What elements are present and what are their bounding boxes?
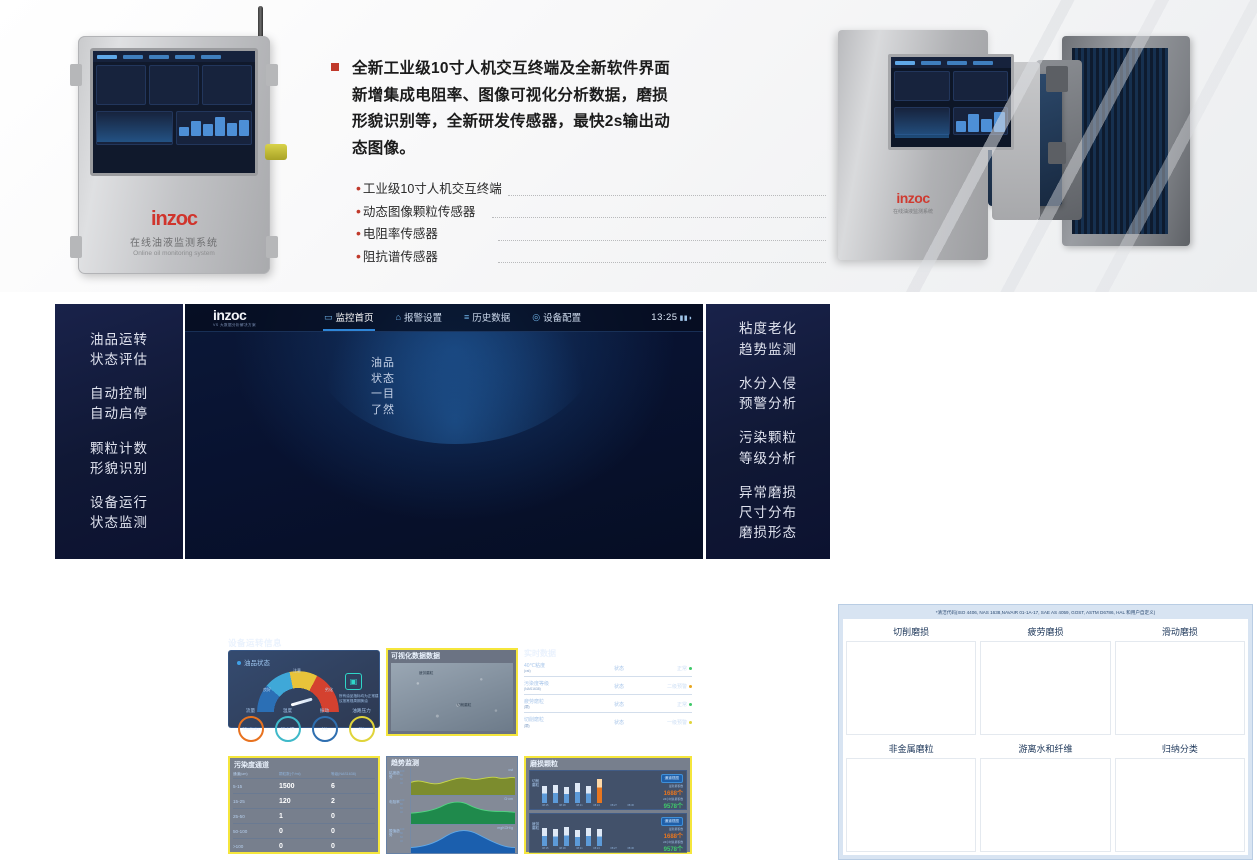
feature-line: 自动控制 bbox=[90, 384, 148, 404]
device-brand-text: inzoc bbox=[78, 208, 270, 231]
callout-label: 工业级10寸人机交互终端 bbox=[363, 182, 502, 196]
device-name-cn: 在线油液监测系统 bbox=[78, 234, 270, 249]
clock-time: 13:25 bbox=[651, 312, 677, 323]
realtime-data-panel: 实时数据 40℃粘度(cst) 67.67 状态 正常 污染度等级(NAS163… bbox=[524, 648, 692, 736]
table-row: 15-25 120 2 bbox=[233, 794, 375, 809]
cell-grade: 0 bbox=[331, 828, 375, 835]
feature-group: 自动控制自动启停 bbox=[90, 384, 148, 425]
callout-label: 电阻率传感器 bbox=[363, 227, 438, 241]
connector-knob bbox=[265, 144, 287, 160]
grid-cell-cutting-wear: 切削磨损 bbox=[846, 622, 976, 735]
gauge-label: 注意 bbox=[293, 668, 301, 674]
mini-gauge-row: 流量 30ml/min 温度 55.4 ℃ 振动 1% 油路压力 2% bbox=[236, 708, 376, 742]
gauge-label: 劣化 bbox=[325, 687, 333, 693]
cell-title: 非金属磨粒 bbox=[846, 739, 976, 758]
trend-monitor-panel: 趋势监测 粘度趋势 100806040 cst 电阻率 1008060 bbox=[386, 756, 518, 854]
status-col-label: 状态 bbox=[614, 701, 640, 708]
right-feature-panel: 粘度老化趋势监测 水分入侵预警分析 污染颗粒等级分析 异常磨损尺寸分布磨损形态 bbox=[706, 304, 830, 559]
settings-icon: ◎ bbox=[532, 312, 540, 323]
mount-tab-bl bbox=[70, 236, 82, 258]
alarm-icon: ⌂ bbox=[396, 312, 401, 322]
product-hero-section: inzoc 在线油液监测系统 Online oil monitoring sys… bbox=[0, 0, 1257, 292]
mini-gauge-value: 2% bbox=[349, 716, 375, 742]
micrograph-image bbox=[1115, 641, 1245, 735]
leader-line bbox=[498, 262, 826, 263]
wear-time-axis: 08:1508:1808:2108:2408:2708:30 bbox=[542, 847, 634, 850]
headline-block: 全新工业级10寸人机交互终端及全新软件界面新增集成电阻率、图像可视化分析数据，磨… bbox=[352, 56, 682, 163]
feature-group: 异常磨损尺寸分布磨损形态 bbox=[739, 483, 797, 544]
status-badge: 正常 bbox=[640, 701, 692, 708]
mount-tab-tl bbox=[70, 64, 82, 86]
feature-line: 异常磨损 bbox=[739, 483, 797, 503]
stat-value: 1688个 bbox=[663, 788, 683, 797]
trend-y-ticks: 100806040 bbox=[400, 797, 410, 825]
nav-item-history[interactable]: ≡ 历史数据 bbox=[463, 304, 511, 331]
wear-stats: 最新累积数 1688个 24小时总累积数 9578个 bbox=[663, 784, 683, 810]
headline-text: 全新工业级10寸人机交互终端及全新软件界面新增集成电阻率、图像可视化分析数据，磨… bbox=[352, 60, 670, 157]
dashboard-nav: ▭ 监控首页 ⌂ 报警设置 ≡ 历史数据 ◎ 设备配置 bbox=[323, 304, 582, 331]
table-row: 5-15 1500 6 bbox=[233, 779, 375, 794]
trend-row-label: 酸值趋势 bbox=[389, 826, 400, 854]
sensor-module-b bbox=[1048, 142, 1066, 164]
feature-line: 颗粒计数 bbox=[90, 439, 148, 459]
trend-unit: cst bbox=[508, 768, 513, 772]
table-row: 切削磨粒(颗) 9578 状态 一级预警 bbox=[524, 714, 692, 731]
metric-value: 1688 bbox=[568, 699, 614, 710]
cell-count: 120 bbox=[279, 798, 331, 805]
stat-value: 9578个 bbox=[663, 801, 683, 810]
visualization-panel: 可视化数据数据 疲劳磨粒 切削磨粒 bbox=[386, 648, 518, 736]
mini-gauge-vibration: 振动 1% bbox=[310, 708, 339, 742]
status-dot-icon bbox=[237, 661, 241, 665]
nav-label: 监控首页 bbox=[336, 310, 374, 324]
trend-chart-resistivity: 电阻率 100806040 Ω·cm bbox=[389, 797, 515, 825]
mini-gauge-caption: 流量 bbox=[236, 708, 265, 714]
feature-line: 污染颗粒 bbox=[739, 428, 797, 448]
metric-value: 6 级 bbox=[568, 679, 614, 694]
dashboard-header: inzoc VS 大数据分析解决方案 ▭ 监控首页 ⌂ 报警设置 ≡ 历史数据 … bbox=[185, 304, 703, 332]
micrograph-image bbox=[1115, 758, 1245, 852]
metric-unit: (NAS1638) bbox=[524, 687, 568, 691]
sensor-module-a bbox=[1046, 66, 1068, 92]
status-col-label: 状态 bbox=[614, 683, 640, 690]
cell-channel: 25-50 bbox=[233, 814, 279, 819]
metric-name: 40℃粘度(cst) bbox=[524, 663, 568, 674]
monitoring-dashboard: inzoc VS 大数据分析解决方案 ▭ 监控首页 ⌂ 报警设置 ≡ 历史数据 … bbox=[185, 304, 703, 559]
feature-line: 状态评估 bbox=[90, 350, 148, 370]
metric-unit: (颗) bbox=[524, 724, 568, 728]
status-badge: 一级预警 bbox=[640, 719, 692, 726]
trend-chart-viscosity: 粘度趋势 100806040 cst bbox=[389, 768, 515, 796]
wear-block-cutting: 切削磨粒 08:1508:1808:2108:2408:2708:30 通道视图… bbox=[529, 770, 687, 810]
particle-tag-cutting: 切削磨粒 bbox=[457, 703, 471, 708]
device-enclosure: inzoc 在线油液监测系统 Online oil monitoring sys… bbox=[78, 36, 270, 274]
mini-gauge-value: 1% bbox=[312, 716, 338, 742]
device-info-title: 设备运转信息 bbox=[228, 637, 282, 649]
table-row: 疲劳磨粒(颗) 1688 状态 正常 bbox=[524, 696, 692, 713]
cell-channel: 5-15 bbox=[233, 784, 279, 789]
metric-name: 污染度等级(NAS1638) bbox=[524, 681, 568, 692]
stat-value: 9578个 bbox=[663, 844, 683, 853]
history-icon: ≡ bbox=[464, 312, 469, 322]
trend-y-ticks: 100806040 bbox=[400, 826, 410, 854]
cell-title: 归纳分类 bbox=[1115, 739, 1245, 758]
trend-unit: mgKOH/g bbox=[497, 826, 513, 830]
feature-line: 水分入侵 bbox=[739, 374, 797, 394]
status-col-label: 状态 bbox=[614, 665, 640, 672]
col-header: 颗粒数(个/ml) bbox=[279, 772, 331, 777]
leader-line bbox=[498, 240, 826, 241]
metric-value: 9578 bbox=[568, 717, 614, 728]
table-row: 40℃粘度(cst) 67.67 状态 正常 bbox=[524, 660, 692, 677]
rear-circuit-array bbox=[1072, 48, 1168, 234]
terminal-screen bbox=[888, 54, 1014, 150]
cell-title: 滑动磨损 bbox=[1115, 622, 1245, 641]
exploded-name-cn: 在线油液监测系统 bbox=[838, 208, 988, 215]
callout-label: 动态图像颗粒传感器 bbox=[363, 205, 476, 219]
list-item: •电阻率传感器 bbox=[356, 223, 826, 246]
area-chart bbox=[411, 826, 515, 853]
status-badge: 二级预警 bbox=[640, 683, 692, 690]
nav-label: 报警设置 bbox=[404, 310, 442, 324]
feature-callout-list: •工业级10寸人机交互终端 •动态图像颗粒传感器 •电阻率传感器 •阻抗谱传感器 bbox=[356, 178, 826, 268]
mini-gauge-caption: 温度 bbox=[273, 708, 302, 714]
chip-icon: ▣ bbox=[345, 673, 362, 690]
nav-item-monitor[interactable]: ▭ 监控首页 bbox=[323, 304, 375, 331]
cell-count: 1 bbox=[279, 813, 331, 820]
trend-title: 趋势监测 bbox=[391, 758, 419, 768]
cell-grade: 0 bbox=[331, 813, 375, 820]
feature-line: 等级分析 bbox=[739, 449, 797, 469]
feature-line: 设备运行 bbox=[90, 493, 148, 513]
callout-label: 阻抗谱传感器 bbox=[363, 250, 438, 264]
feature-group: 设备运行状态监测 bbox=[90, 493, 148, 534]
dashboard-section: 油品运转状态评估 自动控制自动启停 颗粒计数形貌识别 设备运行状态监测 inzo… bbox=[0, 300, 1257, 565]
trend-chart-acidvalue: 酸值趋势 100806040 mgKOH/g bbox=[389, 826, 515, 854]
gauge-label: 良好 bbox=[263, 687, 271, 693]
feature-line: 油品运转 bbox=[90, 330, 148, 350]
particle-tag-fatigue: 疲劳磨粒 bbox=[419, 671, 433, 676]
col-header: 通道(um) bbox=[233, 772, 279, 777]
metric-value: 67.67 bbox=[568, 663, 614, 674]
metric-unit: (颗) bbox=[524, 705, 568, 709]
mini-gauge-caption: 振动 bbox=[310, 708, 339, 714]
trend-unit: Ω·cm bbox=[504, 797, 513, 801]
cell-channel: >100 bbox=[233, 844, 279, 849]
wear-bar-chart bbox=[542, 818, 634, 846]
trend-row-label: 粘度趋势 bbox=[389, 768, 400, 796]
trend-row-label: 电阻率 bbox=[389, 797, 400, 825]
cell-grade: 0 bbox=[331, 843, 375, 850]
micrograph-image bbox=[846, 758, 976, 852]
mount-tab-br bbox=[266, 236, 278, 258]
bullet-dot-icon: • bbox=[356, 225, 361, 241]
feature-line: 自动启停 bbox=[90, 404, 148, 424]
table-header-row: 通道(um) 颗粒数(个/ml) 等级(NAS1638) bbox=[233, 771, 375, 779]
grid-cell-free-water-fiber: 游离水和纤维 bbox=[980, 739, 1110, 852]
visualization-title: 可视化数据数据 bbox=[391, 651, 440, 661]
bullet-square-icon bbox=[331, 63, 339, 71]
cell-count: 0 bbox=[279, 828, 331, 835]
mini-gauge-flow: 流量 30ml/min bbox=[236, 708, 265, 742]
feature-line: 预警分析 bbox=[739, 394, 797, 414]
grid-cell-sliding-wear: 滑动磨损 bbox=[1115, 622, 1245, 735]
grid-cell-classification: 归纳分类 bbox=[1115, 739, 1245, 852]
feature-group: 油品运转状态评估 bbox=[90, 330, 148, 371]
device-photo: inzoc 在线油液监测系统 Online oil monitoring sys… bbox=[60, 6, 295, 276]
channel-title: 污染度通道 bbox=[234, 760, 269, 770]
wear-time-axis: 08:1508:1808:2108:2408:2708:30 bbox=[542, 804, 634, 807]
feature-line: 尺寸分布 bbox=[739, 503, 797, 523]
device-branding: inzoc 在线油液监测系统 Online oil monitoring sys… bbox=[78, 208, 270, 257]
feature-line: 状态监测 bbox=[90, 513, 148, 533]
wear-bar-chart bbox=[542, 775, 634, 803]
device-name-en: Online oil monitoring system bbox=[78, 250, 270, 257]
status-clock: 13:25▮▮◗ bbox=[651, 312, 693, 323]
nav-label: 历史数据 bbox=[472, 310, 510, 324]
area-chart bbox=[411, 797, 515, 824]
metric-name: 疲劳磨粒(颗) bbox=[524, 699, 568, 710]
cell-grade: 2 bbox=[331, 798, 375, 805]
list-item: •动态图像颗粒传感器 bbox=[356, 201, 826, 224]
table-row: 25-50 1 0 bbox=[233, 809, 375, 824]
grid-cell-nonmetal-particle: 非金属磨粒 bbox=[846, 739, 976, 852]
vertical-slogan: 油品状态一目了然 bbox=[371, 356, 395, 418]
feature-group: 水分入侵预警分析 bbox=[739, 374, 797, 415]
front-housing bbox=[838, 30, 988, 260]
channel-view-button[interactable]: 通道视图 bbox=[661, 817, 683, 826]
status-dot-icon bbox=[689, 703, 692, 706]
mount-tab-tr bbox=[266, 64, 278, 86]
status-col-label: 状态 bbox=[614, 719, 640, 726]
col-header: 等级(NAS1638) bbox=[331, 772, 375, 777]
bullet-dot-icon: • bbox=[356, 180, 361, 196]
particle-image: 疲劳磨粒 切削磨粒 bbox=[391, 663, 513, 731]
bullet-dot-icon: • bbox=[356, 248, 361, 264]
cell-count: 0 bbox=[279, 843, 331, 850]
cell-title: 游离水和纤维 bbox=[980, 739, 1110, 758]
cell-grade: 6 bbox=[331, 783, 375, 790]
chip-advice-text: 所有油品指标均为正常建议按常规周期换油 bbox=[339, 694, 379, 705]
mini-gauge-caption: 油路压力 bbox=[347, 708, 376, 714]
wear-block-label: 切削磨粒 bbox=[532, 779, 540, 787]
table-row: >100 0 0 bbox=[233, 839, 375, 854]
oil-status-label: 油品状态 bbox=[237, 657, 270, 667]
table-row: 污染度等级(NAS1638) 6 级 状态 二级预警 bbox=[524, 678, 692, 695]
feature-line: 磨损形态 bbox=[739, 523, 797, 543]
channel-table: 通道(um) 颗粒数(个/ml) 等级(NAS1638) 5-15 1500 6… bbox=[233, 771, 375, 854]
mini-gauge-pressure: 油路压力 2% bbox=[347, 708, 376, 742]
mini-gauge-value: 55.4 ℃ bbox=[275, 716, 301, 742]
cell-title: 疲劳磨损 bbox=[980, 622, 1110, 641]
bullet-dot-icon: • bbox=[356, 203, 361, 219]
realtime-title: 实时数据 bbox=[524, 648, 692, 659]
status-dot-icon bbox=[689, 685, 692, 688]
wear-stats: 最新累积数 1688个 24小时总累积数 9578个 bbox=[663, 827, 683, 853]
nav-item-alarm[interactable]: ⌂ 报警设置 bbox=[395, 304, 443, 331]
monitor-icon: ▭ bbox=[324, 312, 333, 323]
stat-value: 1688个 bbox=[663, 831, 683, 840]
device-screen bbox=[90, 48, 258, 176]
leader-line bbox=[492, 217, 826, 218]
mini-gauge-value: 30ml/min bbox=[238, 716, 264, 742]
table-row: 50-100 0 0 bbox=[233, 824, 375, 839]
nav-label: 设备配置 bbox=[543, 310, 581, 324]
list-item: •阻抗谱传感器 bbox=[356, 246, 826, 269]
feature-line: 粘度老化 bbox=[739, 319, 797, 339]
channel-view-button[interactable]: 通道视图 bbox=[661, 774, 683, 783]
feature-line: 形貌识别 bbox=[90, 459, 148, 479]
wifi-icon: ▮▮◗ bbox=[680, 315, 693, 322]
dashboard-brand-text: inzoc bbox=[213, 307, 305, 323]
status-dot-icon bbox=[689, 667, 692, 670]
cell-channel: 15-25 bbox=[233, 799, 279, 804]
dashboard-logo: inzoc VS 大数据分析解决方案 bbox=[213, 307, 305, 328]
wear-block-fatigue: 疲劳磨粒 08:1508:1808:2108:2408:2708:30 通道视图… bbox=[529, 813, 687, 853]
metric-unit: (cst) bbox=[524, 669, 568, 673]
exploded-device-view: inzoc 在线油液监测系统 bbox=[800, 22, 1235, 272]
status-badge: 正常 bbox=[640, 665, 692, 672]
exploded-brand-text: inzoc bbox=[838, 190, 988, 206]
exploded-branding: inzoc 在线油液监测系统 bbox=[838, 190, 988, 215]
feature-group: 颗粒计数形貌识别 bbox=[90, 439, 148, 480]
list-item: •工业级10寸人机交互终端 bbox=[356, 178, 826, 201]
particle-morphology-grid: *清洁代码(ISO 4406, NAS 1638,NAVAIR 01-1A-17… bbox=[838, 604, 1253, 860]
mini-gauge-temperature: 温度 55.4 ℃ bbox=[273, 708, 302, 742]
leader-line bbox=[508, 195, 826, 196]
cell-channel: 50-100 bbox=[233, 829, 279, 834]
status-dot-icon bbox=[689, 721, 692, 724]
metric-name: 切削磨粒(颗) bbox=[524, 717, 568, 728]
contamination-channel-panel: 污染度通道 通道(um) 颗粒数(个/ml) 等级(NAS1638) 5-15 … bbox=[228, 756, 380, 854]
micrograph-image bbox=[846, 641, 976, 735]
wear-particle-panel: 磨损颗粒 切削磨粒 08:1508:1808:2108:2408:2708:30… bbox=[524, 756, 692, 854]
cell-count: 1500 bbox=[279, 783, 331, 790]
trend-y-ticks: 100806040 bbox=[400, 768, 410, 796]
nav-item-settings[interactable]: ◎ 设备配置 bbox=[531, 304, 582, 331]
wear-block-label: 疲劳磨粒 bbox=[532, 822, 540, 830]
dashboard-brand-sub: VS 大数据分析解决方案 bbox=[213, 323, 305, 328]
feature-group: 污染颗粒等级分析 bbox=[739, 428, 797, 469]
micrograph-image bbox=[980, 641, 1110, 735]
wear-title: 磨损颗粒 bbox=[530, 759, 558, 769]
micrograph-image bbox=[980, 758, 1110, 852]
feature-group: 粘度老化趋势监测 bbox=[739, 319, 797, 360]
cleanliness-code-note: *清洁代码(ISO 4406, NAS 1638,NAVAIR 01-1A-17… bbox=[843, 609, 1248, 619]
grid-cell-fatigue-wear: 疲劳磨损 bbox=[980, 622, 1110, 735]
cell-title: 切削磨损 bbox=[846, 622, 976, 641]
feature-line: 趋势监测 bbox=[739, 340, 797, 360]
area-chart bbox=[411, 768, 515, 795]
left-feature-panel: 油品运转状态评估 自动控制自动启停 颗粒计数形貌识别 设备运行状态监测 bbox=[55, 304, 183, 559]
